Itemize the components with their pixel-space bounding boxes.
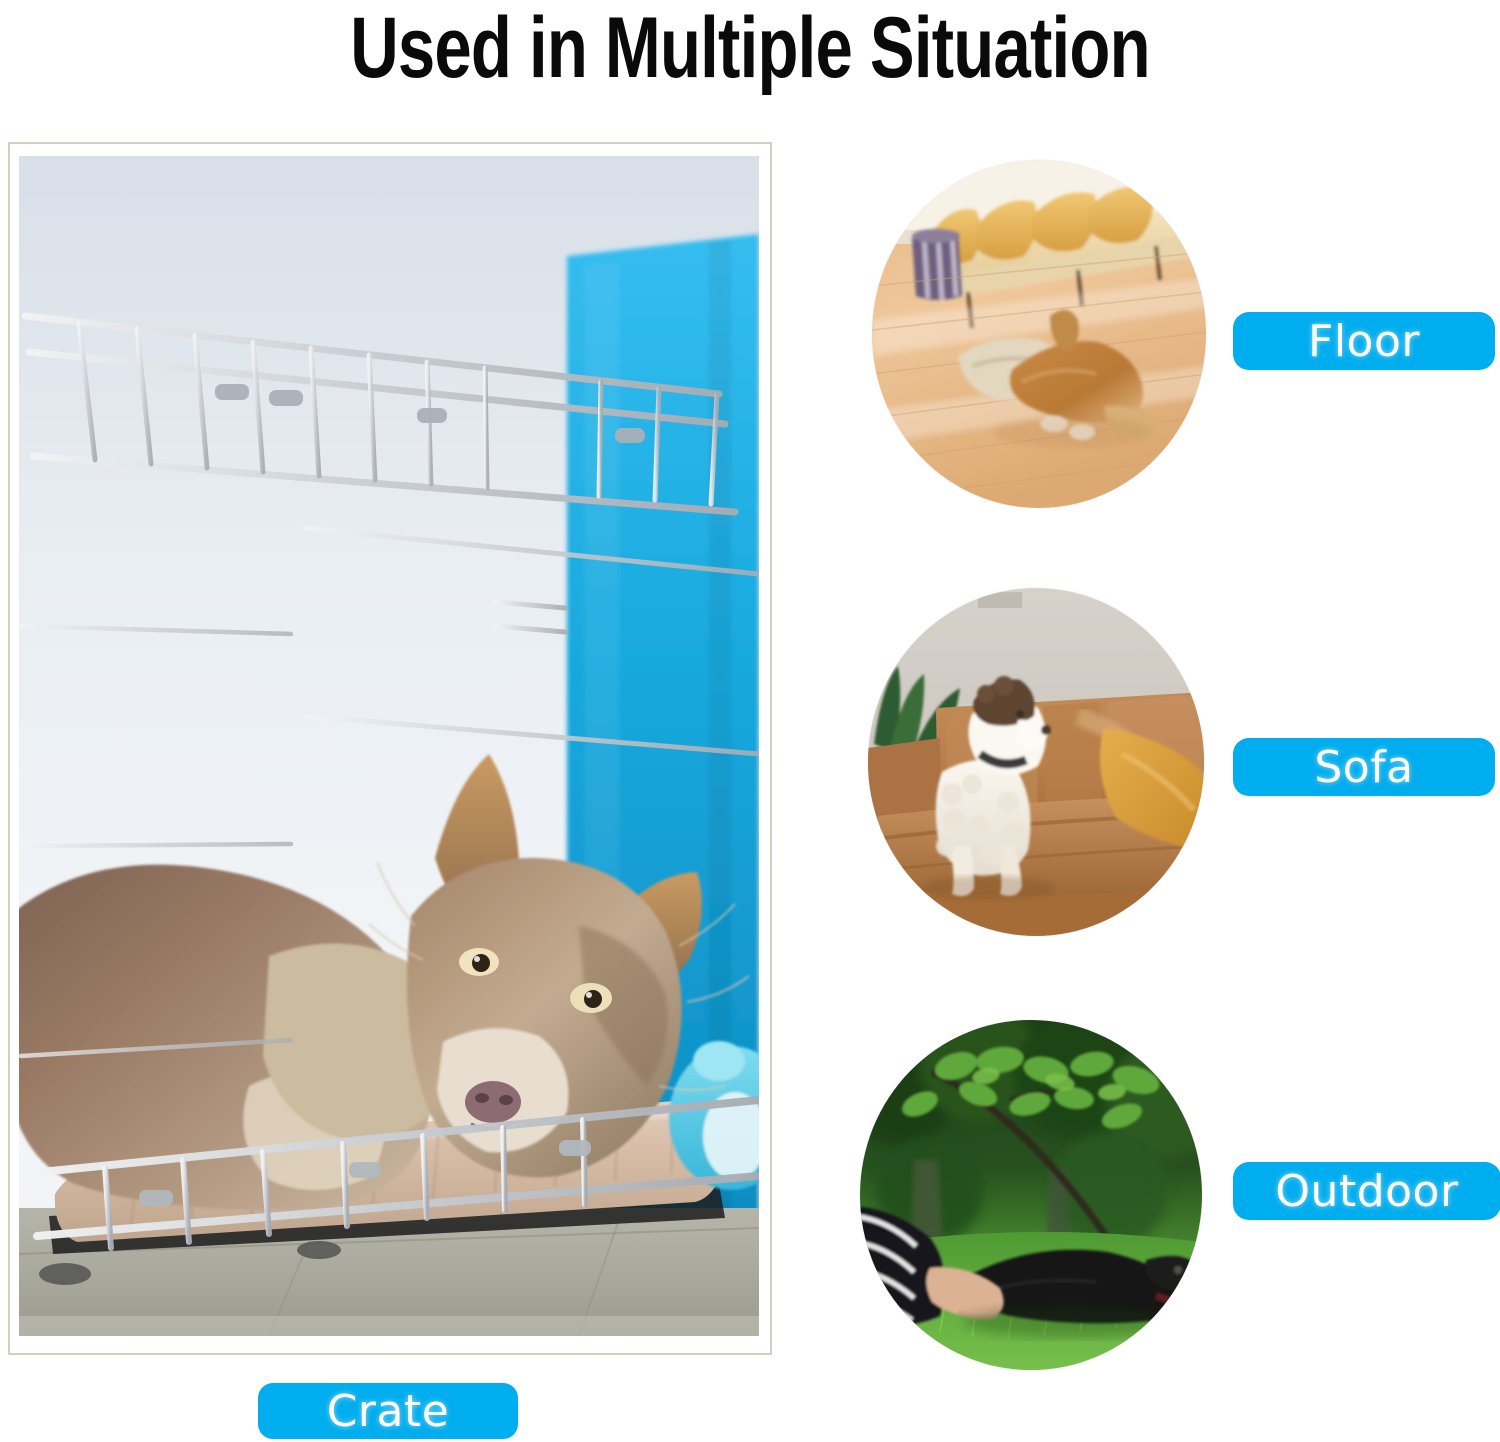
main-photo-frame [8, 142, 772, 1355]
striped-bin [912, 229, 962, 300]
badge-sofa[interactable]: Sofa [1233, 738, 1495, 796]
crate-scene-photo [19, 156, 759, 1336]
main-photo-viewport [19, 156, 759, 1336]
badge-crate[interactable]: Crate [258, 1383, 518, 1439]
situation-image-floor [872, 160, 1206, 508]
badge-outdoor[interactable]: Outdoor [1233, 1162, 1500, 1220]
page-title: Used in Multiple Situation [165, 0, 1335, 100]
badge-floor[interactable]: Floor [1233, 312, 1495, 370]
situation-image-sofa [868, 588, 1204, 936]
situation-image-outdoor [860, 1020, 1202, 1370]
infographic-page: Used in Multiple Situation [0, 0, 1500, 1442]
